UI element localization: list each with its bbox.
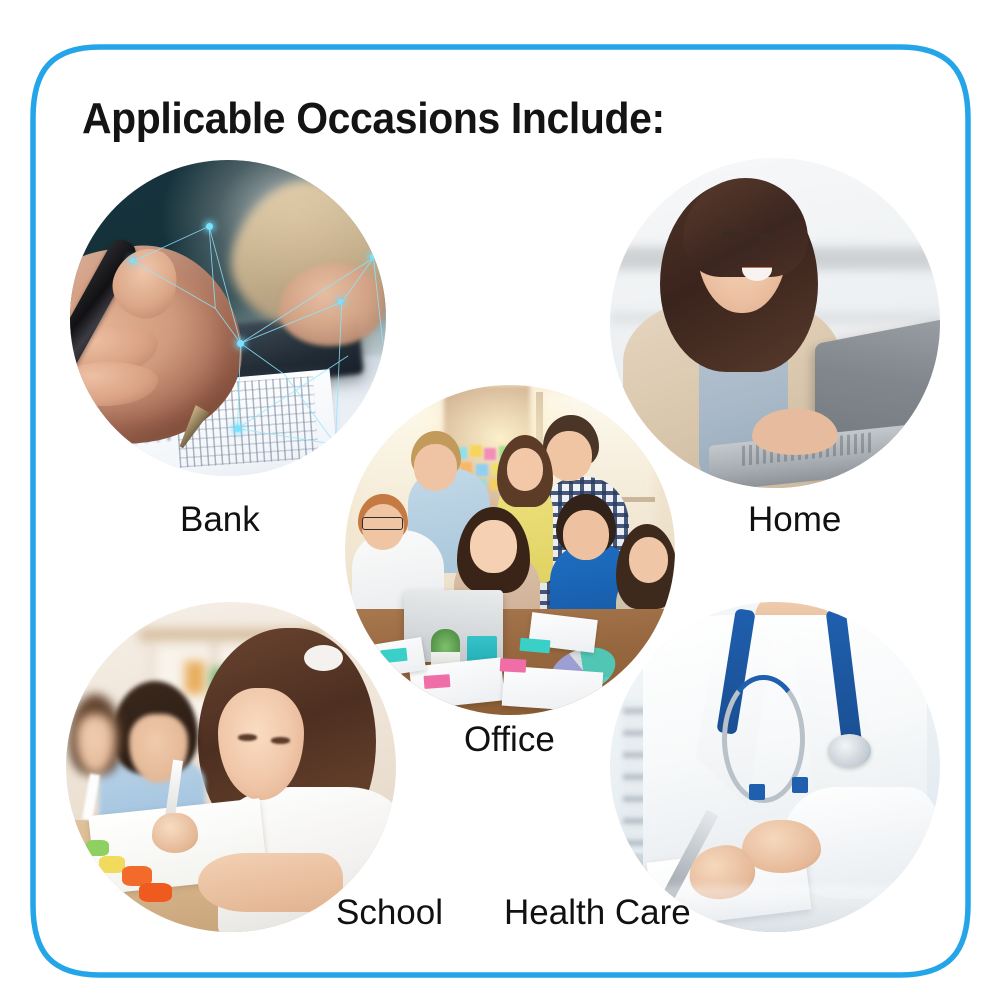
occasion-label-office: Office <box>464 720 555 760</box>
eyeglasses-icon <box>362 517 404 530</box>
health-care-photo-circle <box>610 602 940 932</box>
occasion-label-bank: Bank <box>180 500 260 540</box>
bank-photo-circle <box>70 160 386 476</box>
occasion-label-health-care: Health Care <box>504 893 691 933</box>
bank-photo <box>70 160 386 476</box>
promo-poster: Applicable Occasions Include: <box>0 0 1000 1000</box>
occasion-label-home: Home <box>748 500 841 540</box>
page-title: Applicable Occasions Include: <box>82 94 665 144</box>
occasion-label-school: School <box>336 893 443 933</box>
health-care-photo <box>610 602 940 932</box>
school-photo <box>66 602 396 932</box>
network-overlay-icon <box>70 160 386 476</box>
school-photo-circle <box>66 602 396 932</box>
